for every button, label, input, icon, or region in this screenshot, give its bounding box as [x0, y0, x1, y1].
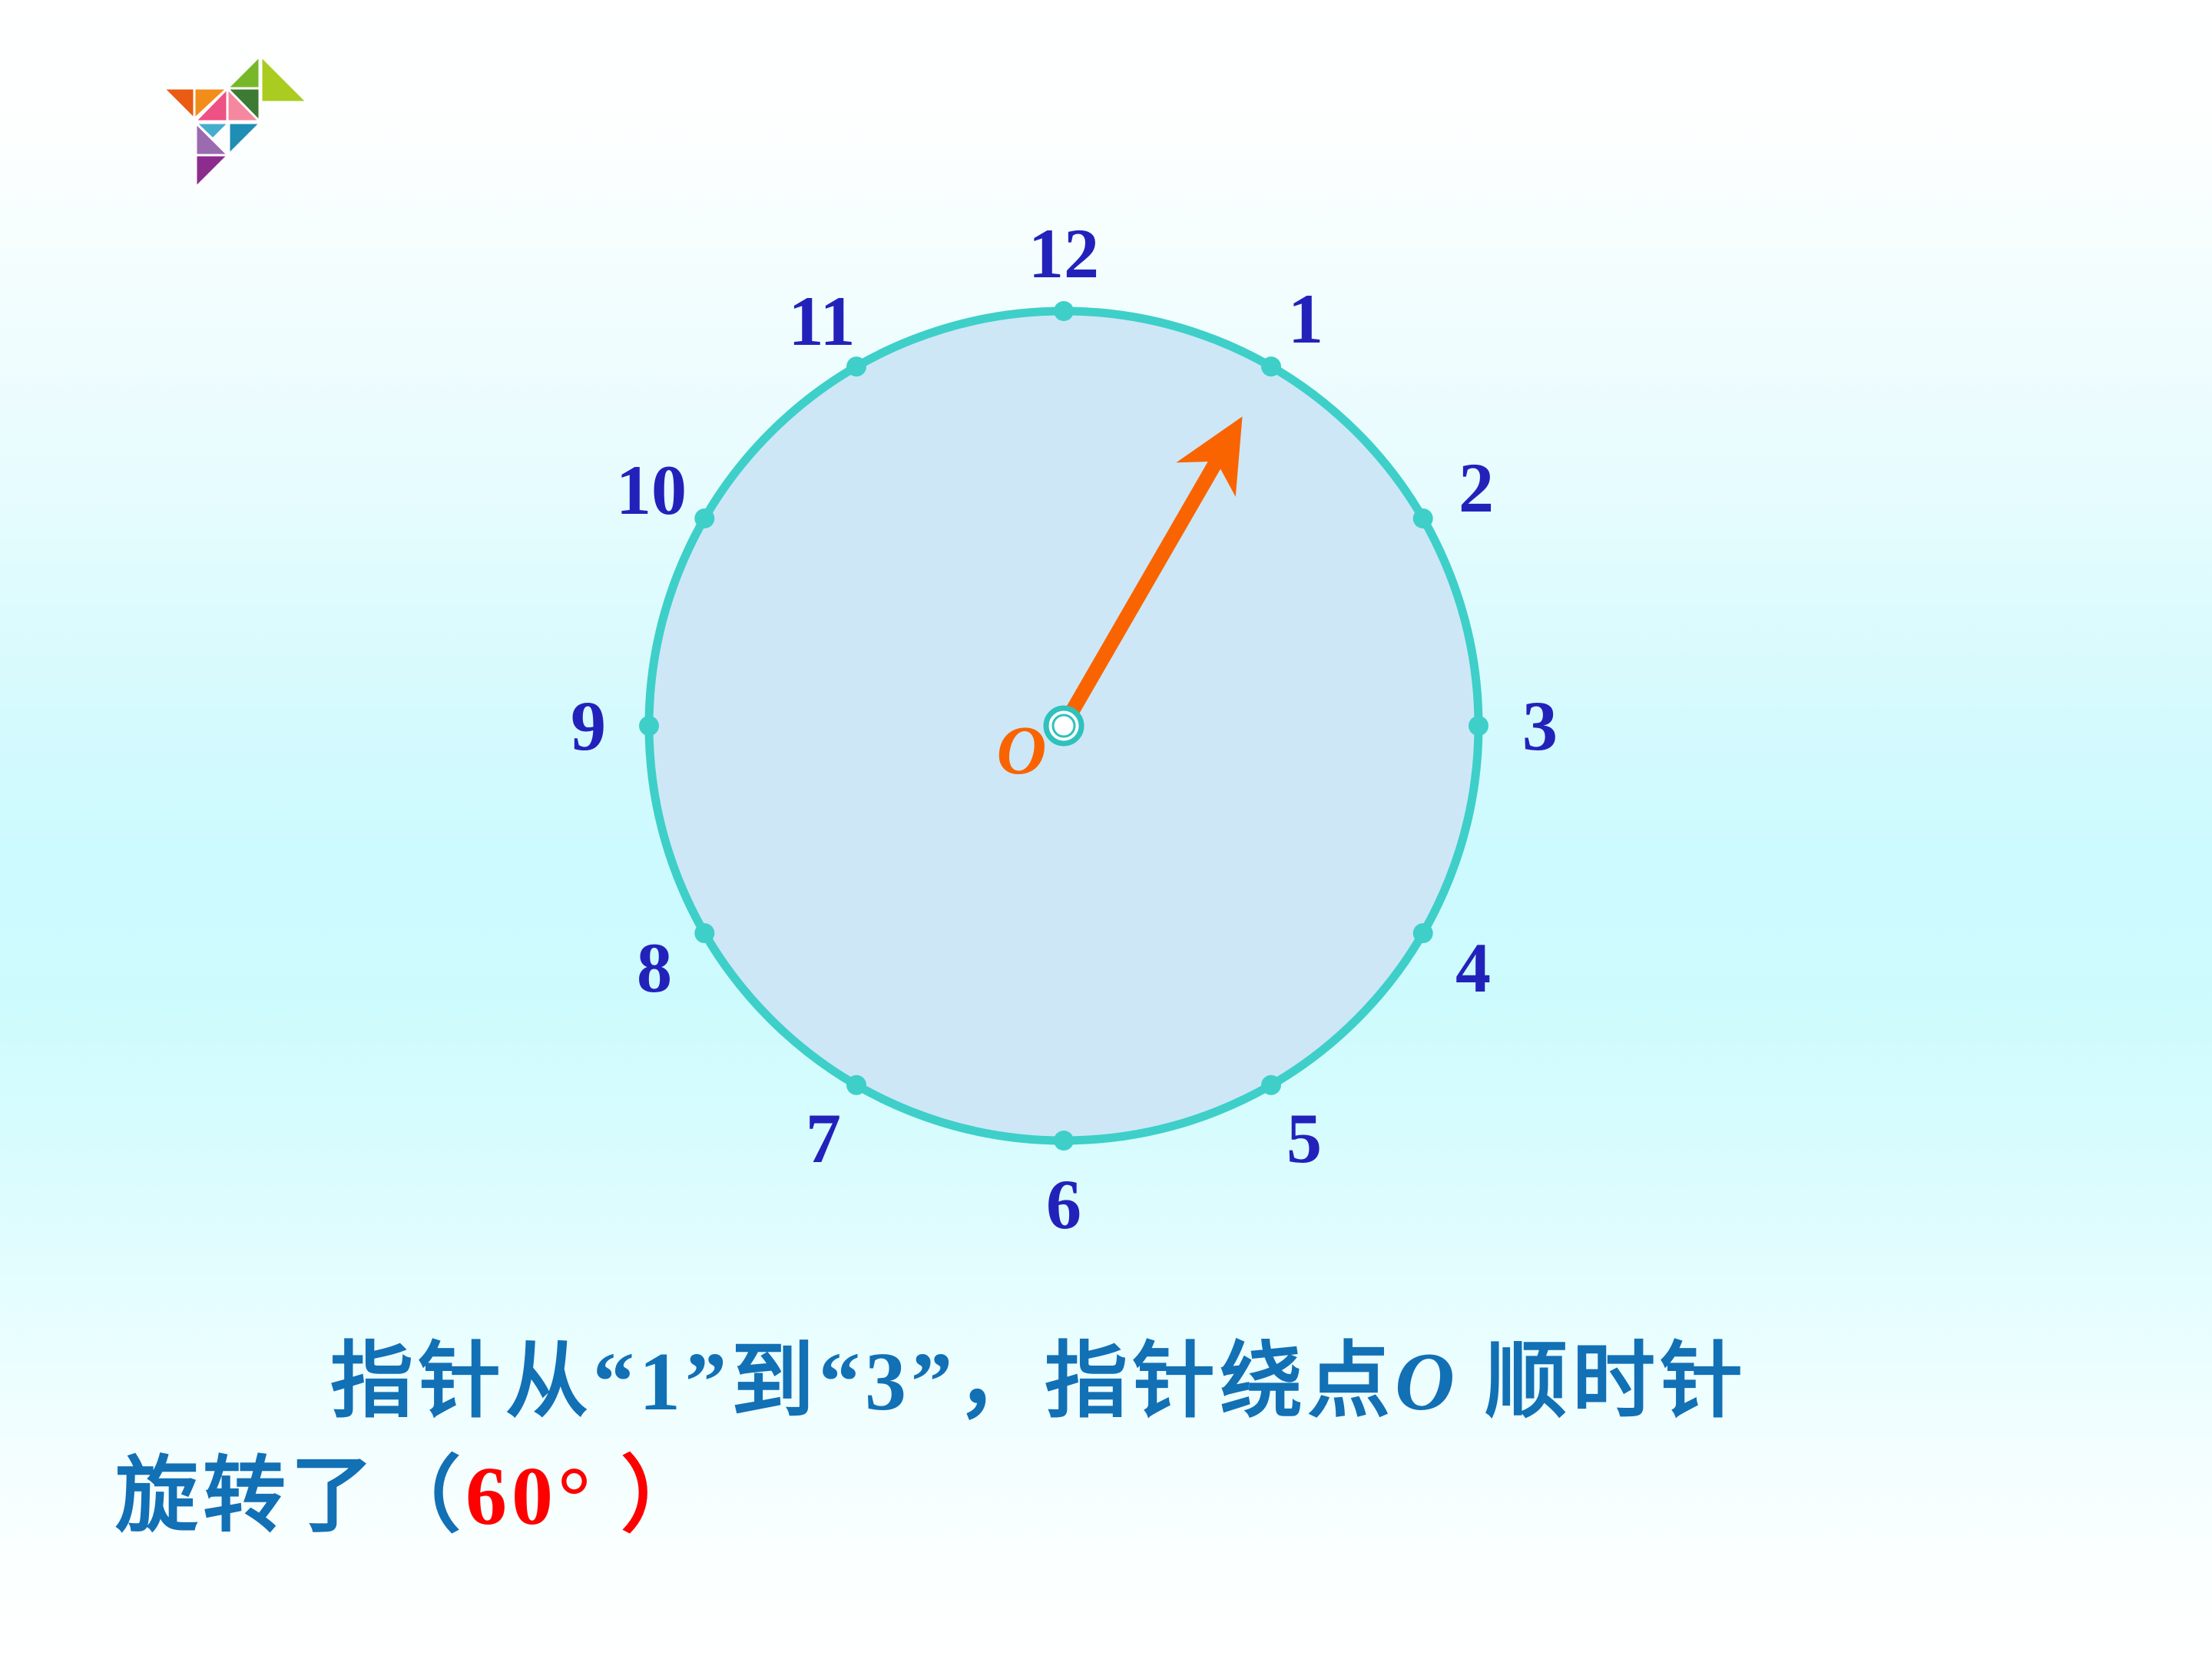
- hour-marker-4: [1413, 923, 1433, 943]
- clock-numeral-2: 2: [1459, 452, 1494, 523]
- clock-numeral-11: 11: [789, 286, 856, 356]
- caption-block: 指针从“1”到“3”，指针绕点O 顺时针 旋转了（60° ）: [0, 1325, 2212, 1554]
- clock-hub-inner-ring: [1053, 715, 1075, 737]
- caption-line2-after: ）: [595, 1451, 708, 1542]
- orange-dark-triangle: [164, 88, 194, 119]
- clock-numeral-9: 9: [571, 690, 606, 761]
- clock-numeral-4: 4: [1455, 932, 1491, 1003]
- clock-numeral-5: 5: [1286, 1103, 1322, 1174]
- hour-marker-8: [694, 923, 714, 943]
- clock-svg: [538, 200, 1613, 1275]
- caption-answer: 60°: [465, 1451, 595, 1542]
- slide-canvas: 12 1 2 3 4 5 6 7 8 9 10 11 O 指针从“1”到“3”，…: [0, 0, 2212, 1659]
- caption-line2-before: 旋转了（: [115, 1451, 465, 1542]
- hour-marker-5: [1261, 1075, 1281, 1095]
- clock-numeral-3: 3: [1522, 690, 1558, 761]
- caption-line-2: 旋转了（60° ）: [0, 1439, 2212, 1554]
- hour-marker-6: [1054, 1131, 1074, 1151]
- center-point-label: O: [997, 717, 1047, 786]
- hour-marker-3: [1469, 716, 1488, 736]
- caption-line-1: 指针从“1”到“3”，指针绕点O 顺时针: [0, 1325, 2212, 1439]
- clock-numeral-12: 12: [1028, 218, 1099, 289]
- clock-diagram: 12 1 2 3 4 5 6 7 8 9 10 11 O: [538, 200, 1613, 1275]
- hour-marker-12: [1054, 301, 1074, 321]
- caption-line1-before: 指针从“1”到“3”，指针绕点: [330, 1336, 1395, 1428]
- clock-numeral-6: 6: [1046, 1169, 1081, 1240]
- clock-numeral-8: 8: [637, 932, 672, 1003]
- hour-marker-2: [1413, 508, 1433, 528]
- caption-point-o: O: [1395, 1336, 1459, 1428]
- green-mid-triangle: [227, 56, 260, 88]
- hour-marker-9: [639, 716, 659, 736]
- caption-line1-after: 顺时针: [1459, 1336, 1747, 1428]
- hour-marker-7: [846, 1075, 866, 1095]
- hour-marker-10: [694, 508, 714, 528]
- purple-dark-triangle: [196, 155, 228, 187]
- green-light-triangle: [261, 56, 307, 102]
- tangram-bird-logo: [91, 23, 321, 200]
- tangram-bird-svg: [91, 23, 321, 200]
- clock-numeral-7: 7: [806, 1103, 841, 1174]
- clock-numeral-1: 1: [1288, 283, 1323, 354]
- clock-numeral-10: 10: [616, 455, 687, 525]
- hour-marker-1: [1261, 356, 1281, 376]
- blue-dark-triangle: [229, 123, 260, 154]
